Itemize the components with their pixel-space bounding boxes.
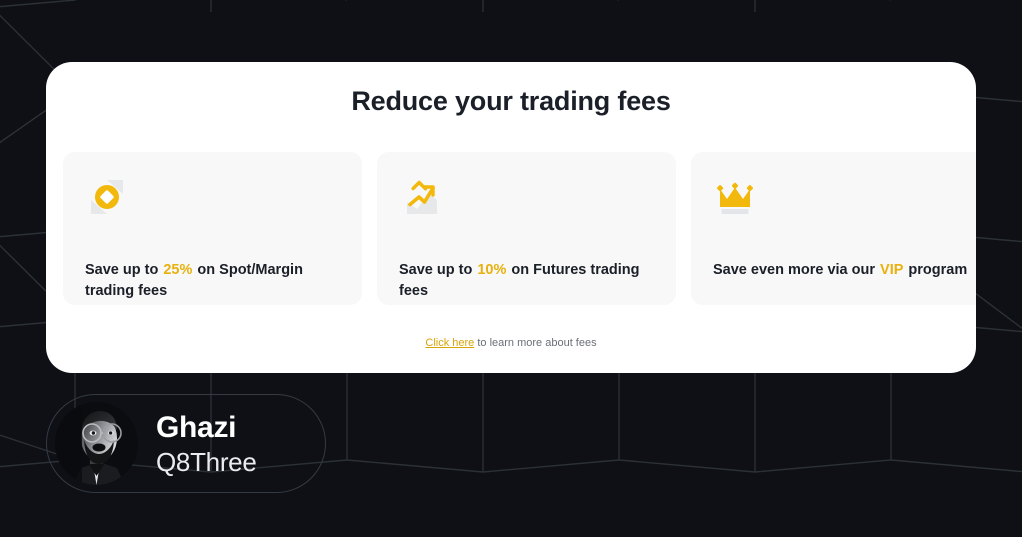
benefit-highlight: 10%	[477, 262, 506, 278]
footer-trailing-text: to learn more about fees	[474, 337, 596, 349]
benefit-card-vip[interactable]: Save even more via our VIP program	[691, 152, 976, 305]
badge-display-name: Ghazi	[156, 413, 257, 443]
badge-handle: Q8Three	[156, 449, 257, 475]
badge-names: Ghazi Q8Three	[156, 413, 257, 475]
learn-more-link[interactable]: Click here	[425, 337, 474, 349]
benefit-card-list: Save up to 25% on Spot/Margin trading fe…	[63, 152, 976, 305]
trending-up-chart-icon	[399, 176, 443, 218]
benefit-text-before: Save even more via our	[713, 262, 879, 278]
panel-footer: Click here to learn more about fees	[46, 337, 976, 349]
benefit-highlight: 25%	[163, 262, 192, 278]
benefit-card-text: Save up to 25% on Spot/Margin trading fe…	[85, 239, 346, 302]
user-badge[interactable]: Ghazi Q8Three	[46, 394, 326, 493]
benefit-text-before: Save up to	[399, 262, 476, 278]
coin-diamond-icon	[85, 176, 129, 218]
promo-panel: Reduce your trading fees Save up to 25% …	[46, 62, 976, 373]
avatar	[55, 402, 138, 485]
benefit-card-text: Save up to 10% on Futures trading fees	[399, 239, 660, 302]
crown-icon	[713, 176, 757, 218]
benefit-text-after: program	[904, 262, 967, 278]
benefit-text-before: Save up to	[85, 262, 162, 278]
benefit-highlight: VIP	[880, 262, 903, 278]
page-title: Reduce your trading fees	[46, 86, 976, 117]
benefit-card-text: Save even more via our VIP program	[713, 239, 974, 281]
benefit-card-futures[interactable]: Save up to 10% on Futures trading fees	[377, 152, 676, 305]
benefit-card-spot-margin[interactable]: Save up to 25% on Spot/Margin trading fe…	[63, 152, 362, 305]
